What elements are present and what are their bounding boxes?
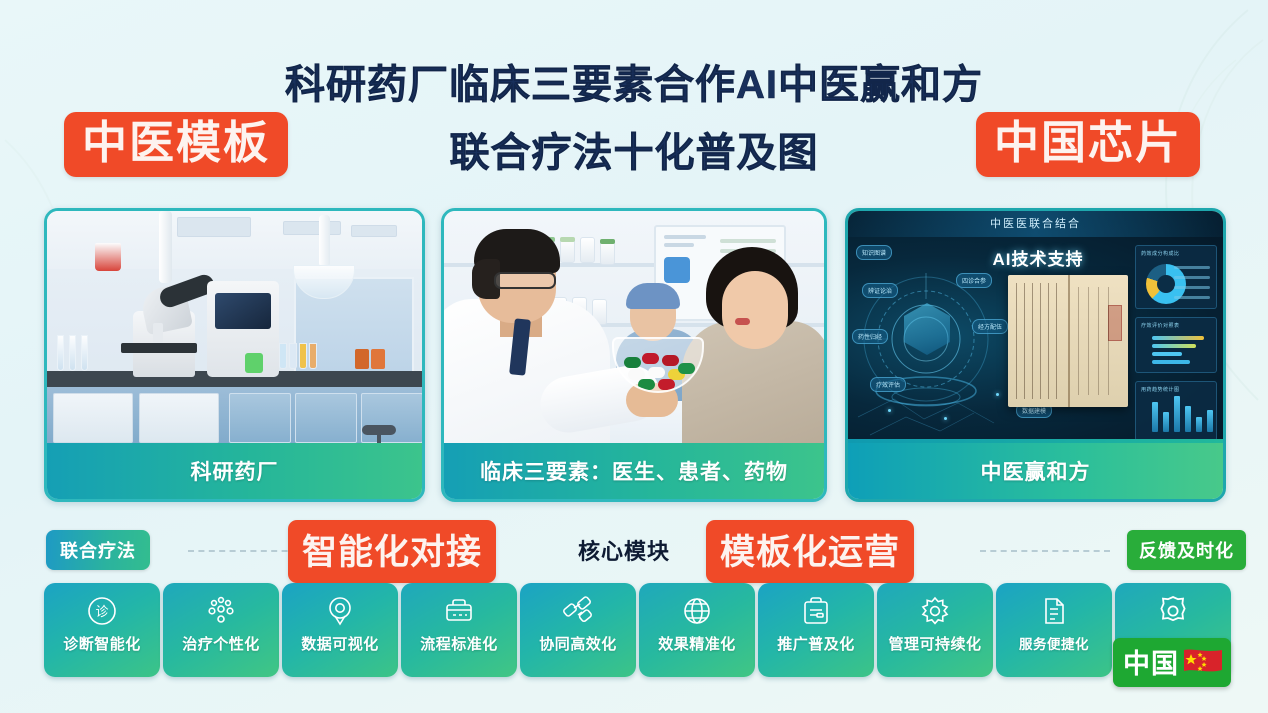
dots-network-icon [204,594,238,628]
page-title-line1: 科研药厂临床三要素合作AI中医赢和方 [0,52,1268,110]
card-caption-1: 科研药厂 [47,443,422,499]
dashed-connector-left [188,550,298,552]
tile-data-visualization[interactable]: 数据可视化 [282,583,398,677]
globe-icon [680,594,714,628]
card-clinical-trio[interactable]: 临床三要素：医生、患者、药物 [441,208,827,502]
tile-promotion-popularized[interactable]: 推广普及化 [758,583,874,677]
tile-process-standardized[interactable]: 流程标准化 [401,583,517,677]
photo-ai-dashboard: 中医医联合结合 AI技术支持 [848,211,1223,449]
tile-label: 服务便捷化 [1019,633,1089,653]
pill-timely-feedback[interactable]: 反馈及时化 [1127,530,1246,570]
photo-laboratory [47,211,422,449]
case-file-icon [442,594,476,628]
ancient-tcm-book [1008,275,1128,407]
tile-label: 管理可持续化 [888,633,981,654]
gear-flower-icon [918,594,952,628]
infographic-page: 科研药厂临床三要素合作AI中医赢和方 中医模板 联合疗法十化普及图 中国芯片 [0,0,1268,713]
badge-china-chip[interactable]: 中国芯片 [976,112,1200,177]
image-card-row: 科研药厂 [0,208,1268,508]
tile-treatment-personalized[interactable]: 治疗个性化 [163,583,279,677]
photo-doctor-patient [444,211,824,449]
gear-octagon-icon [1156,594,1190,628]
card-caption-2: 临床三要素：医生、患者、药物 [444,443,824,499]
tile-management-sustainable[interactable]: 管理可持续化 [877,583,993,677]
tile-label: 数据可视化 [301,633,379,654]
clipboard-icon [799,594,833,628]
panel-bar-compare: 疗效评价对照表 [1135,317,1217,373]
tile-service-convenient[interactable]: 服务便捷化 [996,583,1112,677]
card-research-pharma[interactable]: 科研药厂 [44,208,425,502]
china-label: 中国 [1123,642,1179,681]
tile-label: 效果精准化 [658,633,736,654]
dashed-connector-right [980,550,1110,552]
tile-label: 推广普及化 [777,633,855,654]
tile-label: 治疗个性化 [182,633,260,654]
core-module-label: 核心模块 [578,534,670,566]
ai-screen-top-title: 中医医联合结合 [848,215,1223,231]
svg-text:诊: 诊 [95,604,108,619]
process-strip: 联合疗法 智能化对接 核心模块 模板化运营 反馈及时化 [0,520,1268,582]
location-search-icon [323,594,357,628]
tile-label: 诊断智能化 [63,633,141,654]
badge-template-operation[interactable]: 模板化运营 [706,520,914,583]
panel-donut-chart: 药效成分构成比 [1135,245,1217,309]
panel-bar-trend: 用药趋势统计图 [1135,381,1217,441]
linked-blocks-icon [561,594,595,628]
card-tcm-formula[interactable]: 中医医联合结合 AI技术支持 [845,208,1226,502]
china-flag-icon [1183,648,1223,675]
feature-tile-row: 诊 诊断智能化 治疗个性化 [0,583,1268,681]
pill-combined-therapy[interactable]: 联合疗法 [46,530,150,570]
card-caption-3: 中医赢和方 [848,443,1223,499]
tile-collaboration-efficient[interactable]: 协同高效化 [520,583,636,677]
tile-label: 协同高效化 [539,633,617,654]
tile-diagnosis-intelligent[interactable]: 诊 诊断智能化 [44,583,160,677]
panel-title-1: 药效成分构成比 [1141,250,1180,257]
badge-smart-integration[interactable]: 智能化对接 [288,520,496,583]
tile-label: 流程标准化 [420,633,498,654]
header: 科研药厂临床三要素合作AI中医赢和方 中医模板 联合疗法十化普及图 中国芯片 [0,0,1268,200]
panel-title-3: 用药趋势统计图 [1141,386,1180,393]
panel-title-2: 疗效评价对照表 [1141,322,1180,329]
diagnosis-circle-icon: 诊 [85,594,119,628]
document-icon [1037,594,1071,628]
china-watermark-overlay: 中国 [1113,638,1231,687]
tile-effect-precise[interactable]: 效果精准化 [639,583,755,677]
